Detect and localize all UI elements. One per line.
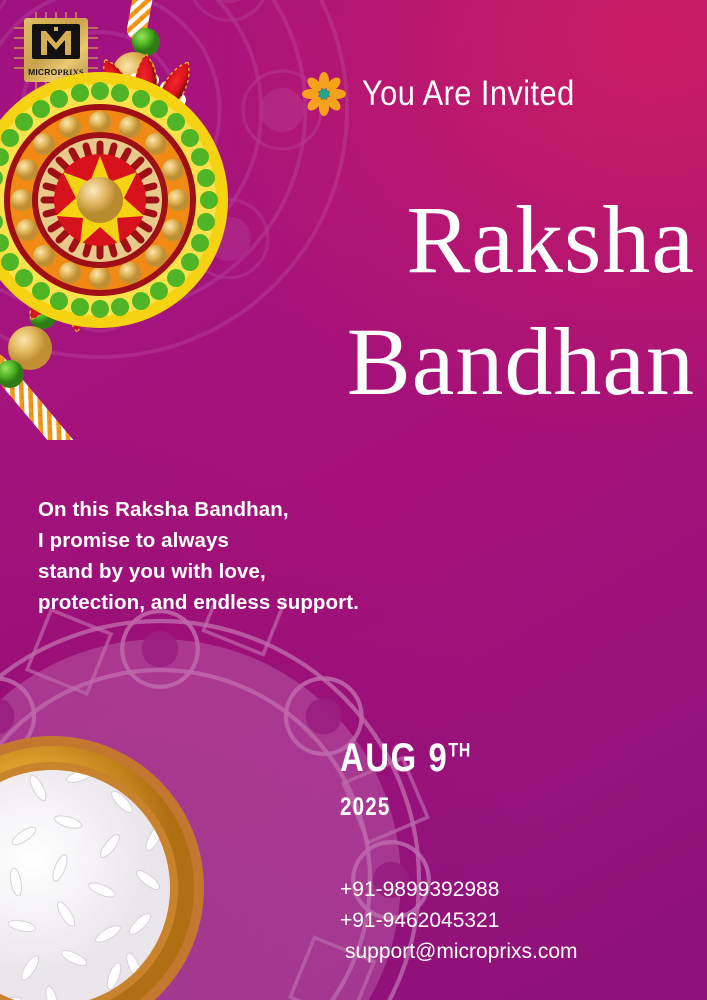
title-line-2: Bandhan [0,294,695,430]
message-line-3: stand by you with love, [38,556,359,587]
message-line-1: On this Raksha Bandhan, [38,494,359,525]
invited-header: You Are Invited [302,72,604,116]
title-line-1: Raksha [0,172,695,308]
rice-bowl [0,718,222,1000]
date-year: 2025 [340,793,471,822]
flower-icon [302,72,346,116]
rakhi-bead-green-top [132,28,160,56]
date-ordinal: TH [448,741,471,762]
contact-details: +91-9899392988 +91-9462045321 support@mi… [340,874,578,967]
message-line-2: I promise to always [38,525,359,556]
contact-email[interactable]: support@microprixs.com [340,936,578,967]
date-month-day: AUG 9TH [340,736,471,781]
date-text: AUG 9 [340,736,448,780]
page-title: Raksha Bandhan [0,172,695,431]
contact-phone-2[interactable]: +91-9462045321 [340,905,578,936]
message-line-4: protection, and endless support. [38,587,359,618]
invited-label: You Are Invited [362,74,575,114]
event-date: AUG 9TH 2025 [340,736,500,822]
contact-phone-1[interactable]: +91-9899392988 [340,874,578,905]
raksha-bandhan-invitation-poster: MICROPRIXS [0,0,707,1000]
invitation-message: On this Raksha Bandhan, I promise to alw… [38,494,359,619]
